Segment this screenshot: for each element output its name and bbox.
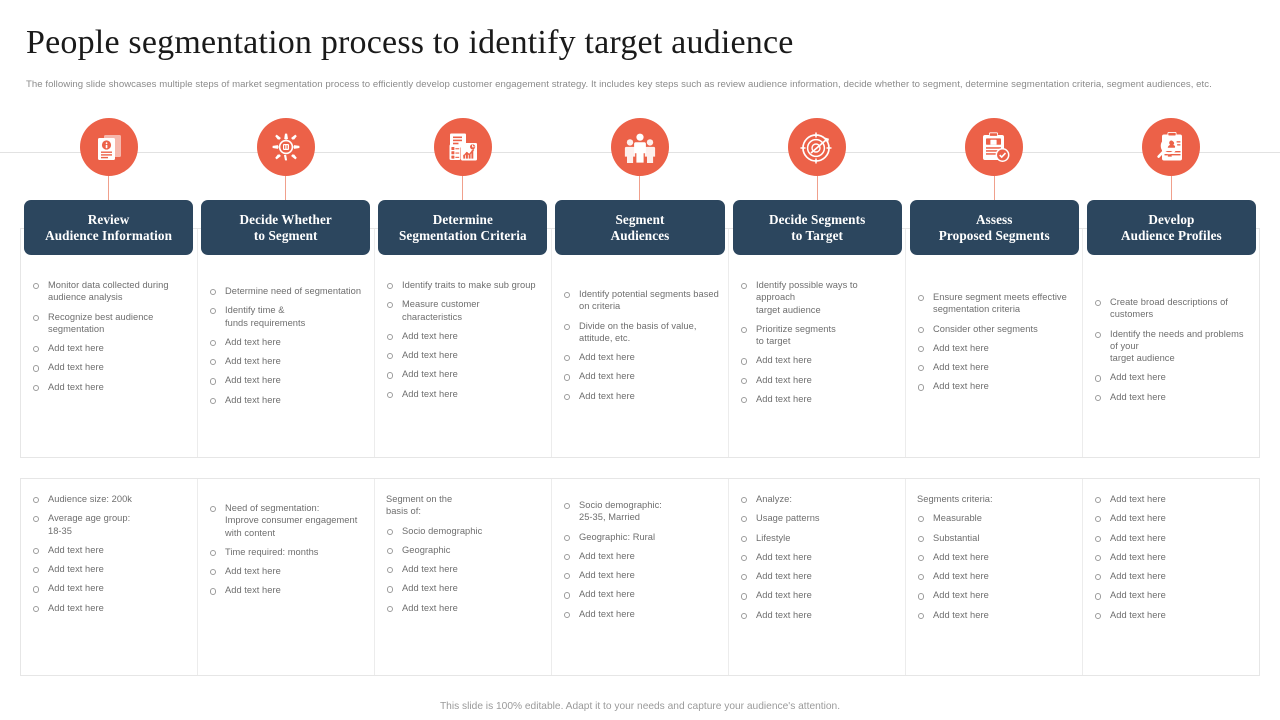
- step-header-2[interactable]: Decide Whetherto Segment: [201, 200, 370, 255]
- detail-list: Socio demographic:25-35, MarriedGeograph…: [561, 499, 719, 620]
- process-icon-cell-3: [374, 118, 551, 176]
- detail-column-3: Identify traits to make sub groupMeasure…: [375, 229, 552, 457]
- detail-column-5: Analyze:Usage patternsLifestyleAdd text …: [729, 479, 906, 675]
- list-item[interactable]: Identify time &funds requirements: [207, 304, 365, 329]
- list-item[interactable]: Add text here: [384, 349, 542, 361]
- list-item[interactable]: Add text here: [738, 551, 896, 563]
- list-item[interactable]: Add text here: [207, 374, 365, 386]
- list-item[interactable]: Add text here: [1092, 512, 1250, 524]
- detail-list: Determine need of segmentationIdentify t…: [207, 285, 365, 406]
- step-header-1[interactable]: ReviewAudience Information: [24, 200, 193, 255]
- detail-list: Analyze:Usage patternsLifestyleAdd text …: [738, 493, 896, 621]
- detail-list: Segment on thebasis of:Socio demographic…: [384, 493, 542, 614]
- list-item[interactable]: Add text here: [1092, 391, 1250, 403]
- detail-list: Audience size: 200kAverage age group:18-…: [30, 493, 188, 614]
- list-item[interactable]: Add text here: [207, 355, 365, 367]
- list-item[interactable]: Add text here: [561, 351, 719, 363]
- process-icon-cell-1: [20, 118, 197, 176]
- step-header-5[interactable]: Decide Segmentsto Target: [733, 200, 902, 255]
- list-item[interactable]: Measure customer characteristics: [384, 298, 542, 323]
- step-title-line2: Proposed Segments: [939, 228, 1050, 244]
- step-title-line1: Segment: [615, 212, 664, 228]
- page-title: People segmentation process to identify …: [26, 24, 1256, 62]
- list-item[interactable]: Add text here: [738, 393, 896, 405]
- list-item[interactable]: Determine need of segmentation: [207, 285, 365, 297]
- list-item[interactable]: Add text here: [915, 361, 1073, 373]
- list-item[interactable]: Identify potential segments basedon crit…: [561, 288, 719, 313]
- step-title-line1: Determine: [433, 212, 493, 228]
- list-item[interactable]: Add text here: [738, 609, 896, 621]
- list-item[interactable]: Add text here: [561, 370, 719, 382]
- list-item[interactable]: Monitor data collected duringaudience an…: [30, 279, 188, 304]
- step-title-line2: to Segment: [254, 228, 318, 244]
- list-item[interactable]: Divide on the basis of value, attitude, …: [561, 320, 719, 345]
- list-item[interactable]: Add text here: [738, 589, 896, 601]
- list-item[interactable]: Measurable: [915, 512, 1073, 524]
- step-header-cell-1: ReviewAudience Information: [20, 200, 197, 255]
- list-item[interactable]: Identify traits to make sub group: [384, 279, 542, 291]
- detail-column-4: Identify potential segments basedon crit…: [552, 229, 729, 457]
- list-item[interactable]: Add text here: [1092, 551, 1250, 563]
- step-title-line2: Audience Information: [45, 228, 172, 244]
- list-item[interactable]: Geographic: [384, 544, 542, 556]
- detail-column-7: Create broad descriptions of customersId…: [1083, 229, 1259, 457]
- list-item[interactable]: Socio demographic: [384, 525, 542, 537]
- list-item[interactable]: Add text here: [1092, 570, 1250, 582]
- process-icon-cell-5: [729, 118, 906, 176]
- clipboard-check-icon[interactable]: [965, 118, 1023, 176]
- list-item[interactable]: Add text here: [1092, 609, 1250, 621]
- list-item[interactable]: Time required: months: [207, 546, 365, 558]
- list-heading[interactable]: Segments criteria:: [915, 493, 1073, 505]
- list-item[interactable]: Add text here: [561, 569, 719, 581]
- detail-list: Identify potential segments basedon crit…: [561, 288, 719, 402]
- list-item[interactable]: Add text here: [30, 544, 188, 556]
- list-item[interactable]: Consider other segments: [915, 323, 1073, 335]
- profile-search-icon[interactable]: [1142, 118, 1200, 176]
- detail-column-5: Identify possible ways to approachtarget…: [729, 229, 906, 457]
- list-item[interactable]: Add text here: [1092, 589, 1250, 601]
- list-item[interactable]: Audience size: 200k: [30, 493, 188, 505]
- list-item[interactable]: Geographic: Rural: [561, 531, 719, 543]
- list-item[interactable]: Add text here: [30, 342, 188, 354]
- step-title-line1: Develop: [1148, 212, 1194, 228]
- step-title-line2: Audience Profiles: [1121, 228, 1222, 244]
- report-analysis-icon[interactable]: [434, 118, 492, 176]
- step-title-line2: Segmentation Criteria: [399, 228, 527, 244]
- list-item[interactable]: Add text here: [738, 354, 896, 366]
- detail-column-6: Segments criteria:MeasurableSubstantialA…: [906, 479, 1083, 675]
- list-item[interactable]: Add text here: [738, 374, 896, 386]
- step-title-line1: Assess: [976, 212, 1013, 228]
- detail-list: Monitor data collected duringaudience an…: [30, 279, 188, 393]
- process-step-header-row: ReviewAudience InformationDecide Whether…: [20, 200, 1260, 255]
- step-header-cell-2: Decide Whetherto Segment: [197, 200, 374, 255]
- list-item[interactable]: Add text here: [30, 582, 188, 594]
- list-item[interactable]: Add text here: [915, 570, 1073, 582]
- detail-column-7: Add text hereAdd text hereAdd text hereA…: [1083, 479, 1259, 675]
- list-item[interactable]: Add text here: [384, 602, 542, 614]
- details-panel-secondary: Audience size: 200kAverage age group:18-…: [20, 478, 1260, 676]
- step-header-cell-4: SegmentAudiences: [551, 200, 728, 255]
- detail-list: Add text hereAdd text hereAdd text hereA…: [1092, 493, 1250, 621]
- step-title-line2: Audiences: [611, 228, 670, 244]
- detail-column-1: Monitor data collected duringaudience an…: [21, 229, 198, 457]
- list-item[interactable]: Add text here: [1092, 371, 1250, 383]
- list-item[interactable]: Add text here: [30, 381, 188, 393]
- details-panel-primary: Monitor data collected duringaudience an…: [20, 228, 1260, 458]
- step-title-line1: Review: [88, 212, 130, 228]
- list-item[interactable]: Substantial: [915, 532, 1073, 544]
- step-header-4[interactable]: SegmentAudiences: [555, 200, 724, 255]
- detail-list: Need of segmentation:Improve consumer en…: [207, 502, 365, 597]
- list-item[interactable]: Add text here: [738, 570, 896, 582]
- document-info-icon[interactable]: [80, 118, 138, 176]
- detail-list: Ensure segment meets effectivesegmentati…: [915, 291, 1073, 393]
- editable-note: This slide is 100% editable. Adapt it to…: [0, 701, 1280, 712]
- target-dart-icon[interactable]: [788, 118, 846, 176]
- detail-column-3: Segment on thebasis of:Socio demographic…: [375, 479, 552, 675]
- list-item[interactable]: Ensure segment meets effectivesegmentati…: [915, 291, 1073, 316]
- list-item[interactable]: Add text here: [30, 563, 188, 575]
- detail-column-2: Determine need of segmentationIdentify t…: [198, 229, 375, 457]
- step-header-cell-3: DetermineSegmentation Criteria: [374, 200, 551, 255]
- list-item[interactable]: Add text here: [915, 609, 1073, 621]
- detail-list: Identify possible ways to approachtarget…: [738, 279, 896, 405]
- detail-column-4: Socio demographic:25-35, MarriedGeograph…: [552, 479, 729, 675]
- detail-list: Identify traits to make sub groupMeasure…: [384, 279, 542, 400]
- step-header-cell-6: AssessProposed Segments: [906, 200, 1083, 255]
- step-header-cell-5: Decide Segmentsto Target: [729, 200, 906, 255]
- list-item[interactable]: Recognize best audience segmentation: [30, 311, 188, 336]
- list-item[interactable]: Add text here: [30, 361, 188, 373]
- list-item[interactable]: Lifestyle: [738, 532, 896, 544]
- list-item[interactable]: Add text here: [30, 602, 188, 614]
- detail-column-1: Audience size: 200kAverage age group:18-…: [21, 479, 198, 675]
- list-item[interactable]: Add text here: [915, 551, 1073, 563]
- process-icon-row: [20, 118, 1260, 176]
- step-title-line1: Decide Whether: [240, 212, 332, 228]
- step-header-3[interactable]: DetermineSegmentation Criteria: [378, 200, 547, 255]
- step-title-line1: Decide Segments: [769, 212, 865, 228]
- list-item[interactable]: Identify the needs and problems of yourt…: [1092, 328, 1250, 365]
- step-header-7[interactable]: DevelopAudience Profiles: [1087, 200, 1256, 255]
- list-item[interactable]: Add text here: [561, 608, 719, 620]
- list-item[interactable]: Add text here: [561, 390, 719, 402]
- list-item[interactable]: Average age group:18-35: [30, 512, 188, 537]
- list-item[interactable]: Add text here: [207, 336, 365, 348]
- audience-group-icon[interactable]: [611, 118, 669, 176]
- detail-list: Create broad descriptions of customersId…: [1092, 296, 1250, 403]
- list-item[interactable]: Identify possible ways to approachtarget…: [738, 279, 896, 316]
- process-icon-cell-4: [551, 118, 728, 176]
- list-item[interactable]: Socio demographic:25-35, Married: [561, 499, 719, 524]
- list-item[interactable]: Add text here: [207, 584, 365, 596]
- list-item[interactable]: Add text here: [207, 565, 365, 577]
- segmentation-network-icon[interactable]: [257, 118, 315, 176]
- step-title-line2: to Target: [791, 228, 843, 244]
- list-item[interactable]: Add text here: [384, 582, 542, 594]
- list-item[interactable]: Add text here: [915, 589, 1073, 601]
- list-item[interactable]: Add text here: [384, 388, 542, 400]
- list-item[interactable]: Add text here: [561, 588, 719, 600]
- list-item[interactable]: Analyze:: [738, 493, 896, 505]
- list-item[interactable]: Add text here: [384, 330, 542, 342]
- list-item[interactable]: Add text here: [1092, 532, 1250, 544]
- list-item[interactable]: Add text here: [915, 380, 1073, 392]
- list-item[interactable]: Prioritize segmentsto target: [738, 323, 896, 348]
- detail-list: Segments criteria:MeasurableSubstantialA…: [915, 493, 1073, 621]
- list-item[interactable]: Add text here: [1092, 493, 1250, 505]
- list-item[interactable]: Need of segmentation:Improve consumer en…: [207, 502, 365, 539]
- process-icon-cell-2: [197, 118, 374, 176]
- list-item[interactable]: Create broad descriptions of customers: [1092, 296, 1250, 321]
- list-item[interactable]: Add text here: [384, 368, 542, 380]
- list-item[interactable]: Add text here: [384, 563, 542, 575]
- detail-column-6: Ensure segment meets effectivesegmentati…: [906, 229, 1083, 457]
- step-header-6[interactable]: AssessProposed Segments: [910, 200, 1079, 255]
- page-subtitle: The following slide showcases multiple s…: [26, 79, 1254, 91]
- list-item[interactable]: Add text here: [561, 550, 719, 562]
- process-icon-cell-6: [906, 118, 1083, 176]
- list-heading[interactable]: Segment on thebasis of:: [384, 493, 542, 518]
- list-item[interactable]: Add text here: [915, 342, 1073, 354]
- step-header-cell-7: DevelopAudience Profiles: [1083, 200, 1260, 255]
- detail-column-2: Need of segmentation:Improve consumer en…: [198, 479, 375, 675]
- process-icon-cell-7: [1083, 118, 1260, 176]
- list-item[interactable]: Usage patterns: [738, 512, 896, 524]
- list-item[interactable]: Add text here: [207, 394, 365, 406]
